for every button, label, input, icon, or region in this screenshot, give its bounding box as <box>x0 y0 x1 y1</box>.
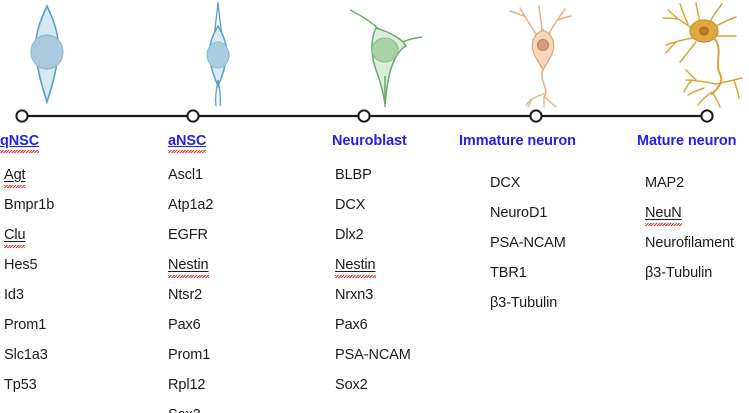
stage-label-ansc: aNSC <box>168 133 206 149</box>
marker-row: β3-Tubulin <box>490 296 650 326</box>
marker-gene: Nestin <box>168 258 209 273</box>
marker-gene: Ntsr2 <box>168 288 202 303</box>
marker-gene: Prom1 <box>168 348 210 363</box>
marker-gene: Agt <box>4 168 25 183</box>
marker-row: Neurofilament <box>645 236 749 266</box>
marker-gene: BLBP <box>335 168 372 183</box>
marker-gene: Sox2 <box>168 408 201 413</box>
marker-row: Pax6 <box>335 318 495 348</box>
marker-row: Rpl12 <box>168 378 328 408</box>
marker-gene: DCX <box>335 198 365 213</box>
marker-row: BLBP <box>335 168 495 198</box>
marker-row: MAP2 <box>645 176 749 206</box>
spellcheck-underline <box>168 275 209 278</box>
marker-gene: Sox2 <box>335 378 368 393</box>
marker-row: Sox2 <box>335 378 495 408</box>
marker-row: Ntsr2 <box>168 288 328 318</box>
qnsc-nucleus <box>31 35 63 69</box>
marker-row: PSA-NCAM <box>335 348 495 378</box>
marker-gene: Slc1a3 <box>4 348 48 363</box>
marker-gene: Bmpr1b <box>4 198 54 213</box>
spellcheck-underline <box>4 185 25 188</box>
marker-gene: Id3 <box>4 288 24 303</box>
spellcheck-underline <box>168 150 206 153</box>
node-immature-neuron[interactable] <box>530 110 541 121</box>
marker-gene: Dlx2 <box>335 228 364 243</box>
stage-label-qnsc: qNSC <box>0 133 39 149</box>
marker-gene: NeuN <box>645 206 682 221</box>
marker-row: Ascl1 <box>168 168 328 198</box>
cell-illustration-activated-neural-stem-cell <box>143 0 293 108</box>
ansc-nucleus <box>207 42 229 68</box>
stage-label-mature-neuron: Mature neuron <box>637 133 736 149</box>
neural-lineage-figure: qNSCaNSCNeuroblastImmature neuronMature … <box>0 0 749 413</box>
stage-label-neuroblast: Neuroblast <box>332 133 407 149</box>
marker-gene: Neurofilament <box>645 236 734 251</box>
marker-row: DCX <box>490 176 650 206</box>
node-neuroblast[interactable] <box>358 110 369 121</box>
marker-gene: DCX <box>490 176 520 191</box>
marker-column-neuroblast: BLBPDCXDlx2NestinNrxn3Pax6PSA-NCAMSox2 <box>335 168 495 408</box>
node-mature-neuron[interactable] <box>701 110 712 121</box>
marker-row: DCX <box>335 198 495 228</box>
marker-gene: Clu <box>4 228 25 243</box>
marker-gene: NeuroD1 <box>490 206 547 221</box>
mature-neuron-nucleus <box>700 27 709 35</box>
immature-neuron-nucleus <box>538 40 549 51</box>
marker-gene: Prom1 <box>4 318 46 333</box>
marker-gene: Pax6 <box>335 318 368 333</box>
marker-row: Atp1a2 <box>168 198 328 228</box>
marker-row: Agt <box>4 168 164 198</box>
marker-row: Hes5 <box>4 258 164 288</box>
marker-gene: Nestin <box>335 258 376 273</box>
marker-gene: MAP2 <box>645 176 684 191</box>
marker-row: Clu <box>4 228 164 258</box>
marker-row: Tp53 <box>4 378 164 408</box>
marker-gene: Hes5 <box>4 258 37 273</box>
cell-illustration-quiescent-neural-stem-cell <box>0 0 122 108</box>
cell-illustration-neuroblast <box>310 0 460 108</box>
node-ansc[interactable] <box>187 110 198 121</box>
marker-column-ansc: Ascl1Atp1a2EGFRNestinNtsr2Pax6Prom1Rpl12… <box>168 168 328 413</box>
cell-illustration-immature-neuron <box>468 0 618 108</box>
marker-row: TBR1 <box>490 266 650 296</box>
marker-row: Id3 <box>4 288 164 318</box>
marker-gene: β3-Tubulin <box>490 296 557 311</box>
marker-gene: β3-Tubulin <box>645 266 712 281</box>
marker-row: Prom1 <box>4 318 164 348</box>
marker-gene: PSA-NCAM <box>490 236 566 251</box>
marker-gene: TBR1 <box>490 266 527 281</box>
marker-gene: PSA-NCAM <box>335 348 411 363</box>
spellcheck-underline <box>335 275 376 278</box>
marker-gene: Nrxn3 <box>335 288 373 303</box>
spellcheck-underline <box>0 150 39 153</box>
marker-gene: Pax6 <box>168 318 201 333</box>
immature-neuron-dendrites <box>510 6 571 34</box>
marker-gene: Rpl12 <box>168 378 205 393</box>
mature-neuron-axon <box>712 38 721 94</box>
marker-column-immature-neuron: DCXNeuroD1PSA-NCAMTBR1β3-Tubulin <box>490 176 650 326</box>
marker-row: Sox2 <box>168 408 328 413</box>
marker-column-mature-neuron: MAP2NeuNNeurofilamentβ3-Tubulin <box>645 176 749 296</box>
marker-row: EGFR <box>168 228 328 258</box>
spellcheck-underline <box>4 245 25 248</box>
marker-row: Prom1 <box>168 348 328 378</box>
marker-row: Nrxn3 <box>335 288 495 318</box>
mature-neuron-axon-terminals <box>684 70 742 107</box>
marker-row: Nestin <box>335 258 495 288</box>
node-qnsc[interactable] <box>16 110 27 121</box>
marker-gene: EGFR <box>168 228 208 243</box>
marker-row: NeuroD1 <box>490 206 650 236</box>
marker-row: Nestin <box>168 258 328 288</box>
cell-illustration-mature-neuron <box>630 0 749 108</box>
spellcheck-underline <box>645 223 682 226</box>
marker-row: Slc1a3 <box>4 348 164 378</box>
marker-row: NeuN <box>645 206 749 236</box>
neuroblast-nucleus <box>372 38 398 62</box>
marker-gene: Atp1a2 <box>168 198 213 213</box>
marker-gene: Tp53 <box>4 378 37 393</box>
timeline-axis <box>0 104 749 128</box>
marker-column-qnsc: AgtBmpr1bCluHes5Id3Prom1Slc1a3Tp53 <box>4 168 164 408</box>
marker-row: β3-Tubulin <box>645 266 749 296</box>
marker-row: Bmpr1b <box>4 198 164 228</box>
marker-row: PSA-NCAM <box>490 236 650 266</box>
marker-row: Pax6 <box>168 318 328 348</box>
stage-label-immature-neuron: Immature neuron <box>459 133 576 149</box>
marker-row: Dlx2 <box>335 228 495 258</box>
marker-gene: Ascl1 <box>168 168 203 183</box>
